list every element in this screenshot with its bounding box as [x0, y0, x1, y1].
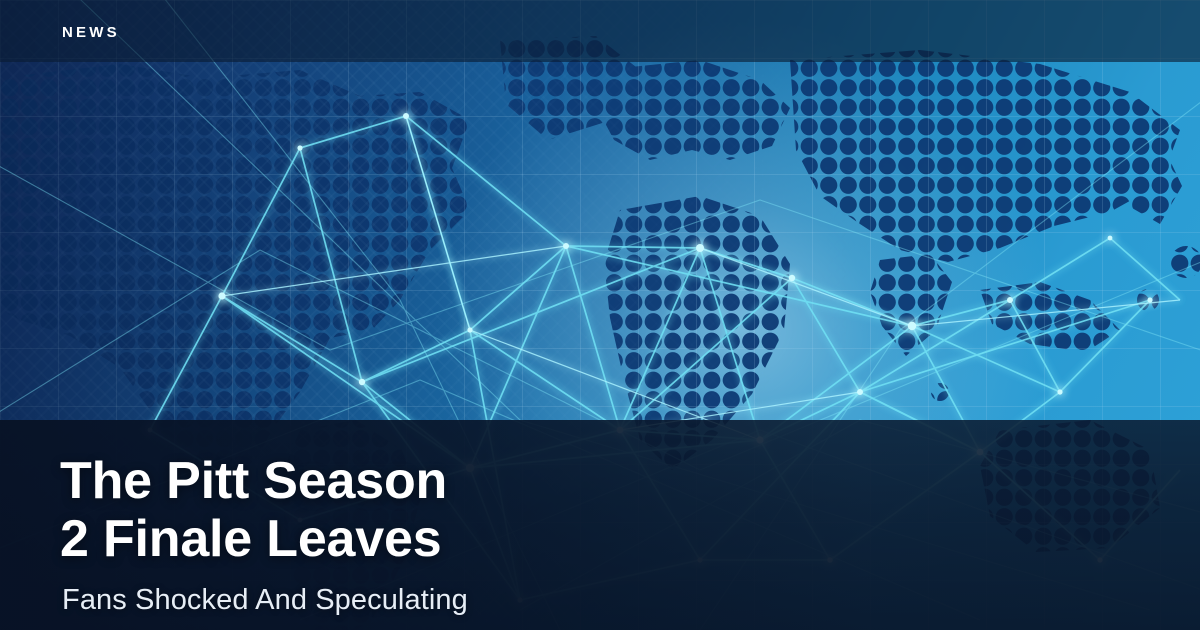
category-kicker: NEWS — [62, 25, 120, 40]
news-band — [0, 0, 1200, 62]
page-title-line-1: The Pitt Season — [60, 452, 447, 510]
page-title-line-2: 2 Finale Leaves — [60, 510, 447, 568]
page-title: The Pitt Season2 Finale Leaves — [60, 452, 447, 568]
page-subtitle: Fans Shocked And Speculating — [62, 583, 468, 617]
news-hero-card: NEWS The Pitt Season2 Finale Leaves Fans… — [0, 0, 1200, 630]
